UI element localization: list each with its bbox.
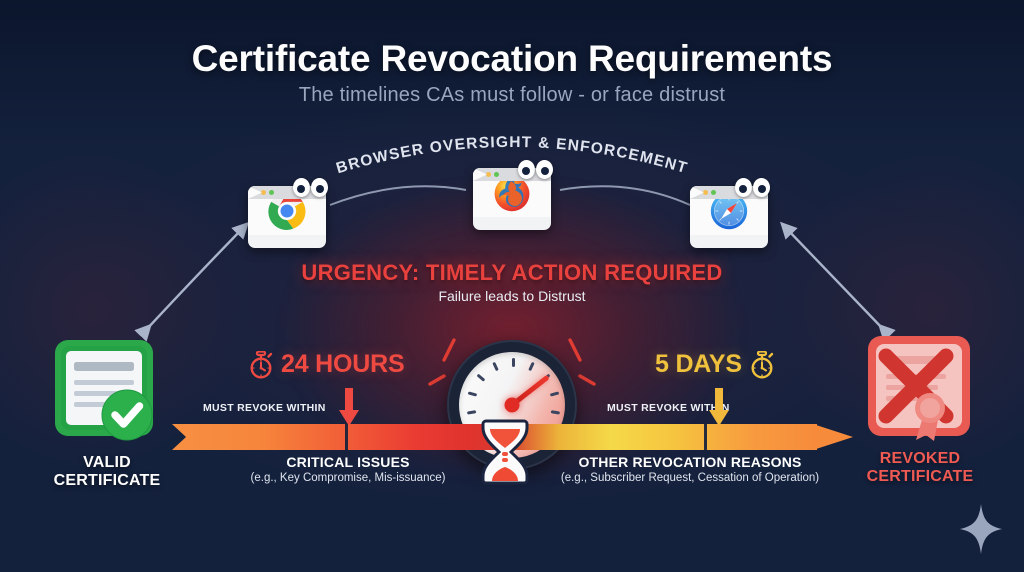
valid-certificate-icon <box>47 336 167 446</box>
marker-5d-down-arrow-icon <box>707 388 731 428</box>
timeline-divider-24h <box>345 424 348 450</box>
valid-label-line1: VALID <box>83 454 131 471</box>
browser-window-chrome[interactable] <box>248 178 326 248</box>
marker-24h-time: 24 HOURS <box>281 350 404 379</box>
gauge-hub <box>505 398 520 413</box>
revoked-certificate-icon <box>860 332 980 447</box>
urgency-subline: Failure leads to Distrust <box>0 288 1024 304</box>
caption-critical-title: CRITICAL ISSUES <box>228 454 468 470</box>
maximize-dot-icon <box>711 190 716 195</box>
maximize-dot-icon <box>494 172 499 177</box>
valid-label-line2: CERTIFICATE <box>54 472 161 489</box>
caption-other-title: OTHER REVOCATION REASONS <box>540 454 840 470</box>
revoked-label-line2: CERTIFICATE <box>867 468 974 485</box>
marker-5d-time-row: 5 DAYS <box>655 350 775 379</box>
stopwatch-icon <box>749 351 775 379</box>
valid-certificate-card[interactable]: VALID CERTIFICATE <box>32 336 182 490</box>
urgency-headline: URGENCY: TIMELY ACTION REQUIRED <box>0 260 1024 286</box>
revoked-label-line1: REVOKED <box>880 450 961 467</box>
valid-certificate-label: VALID CERTIFICATE <box>32 454 182 490</box>
googly-eyes-icon <box>735 178 770 197</box>
browser-window-safari[interactable] <box>690 178 768 248</box>
caption-critical-issues: CRITICAL ISSUES (e.g., Key Compromise, M… <box>228 454 468 484</box>
revoked-certificate-label: REVOKED CERTIFICATE <box>845 450 995 486</box>
timeline-divider-5d <box>704 424 707 450</box>
browser-window-firefox[interactable] <box>473 160 551 230</box>
revoked-certificate-card[interactable]: REVOKED CERTIFICATE <box>845 332 995 486</box>
infographic-canvas: Certificate Revocation Requirements The … <box>0 0 1024 572</box>
marker-5d-time: 5 DAYS <box>655 350 742 379</box>
caption-other-reasons: OTHER REVOCATION REASONS (e.g., Subscrib… <box>540 454 840 484</box>
googly-eyes-icon <box>518 160 553 179</box>
hourglass-icon <box>479 418 531 494</box>
marker-24h-must-revoke-label: MUST REVOKE WITHIN <box>203 402 326 414</box>
caption-critical-sub: (e.g., Key Compromise, Mis-issuance) <box>228 472 468 484</box>
marker-24-hours: 24 HOURS MUST REVOKE WITHIN <box>248 350 404 379</box>
maximize-dot-icon <box>269 190 274 195</box>
caption-other-sub: (e.g., Subscriber Request, Cessation of … <box>540 472 840 484</box>
marker-24h-time-row: 24 HOURS <box>248 350 404 379</box>
page-subtitle: The timelines CAs must follow - or face … <box>0 84 1024 107</box>
stopwatch-icon <box>248 351 274 379</box>
googly-eyes-icon <box>293 178 328 197</box>
page-title: Certificate Revocation Requirements <box>0 38 1024 80</box>
marker-5-days: 5 DAYS MUST REVOKE WITHIN <box>655 350 775 379</box>
sparkle-icon <box>958 502 1004 556</box>
marker-24h-down-arrow-icon <box>337 388 361 428</box>
